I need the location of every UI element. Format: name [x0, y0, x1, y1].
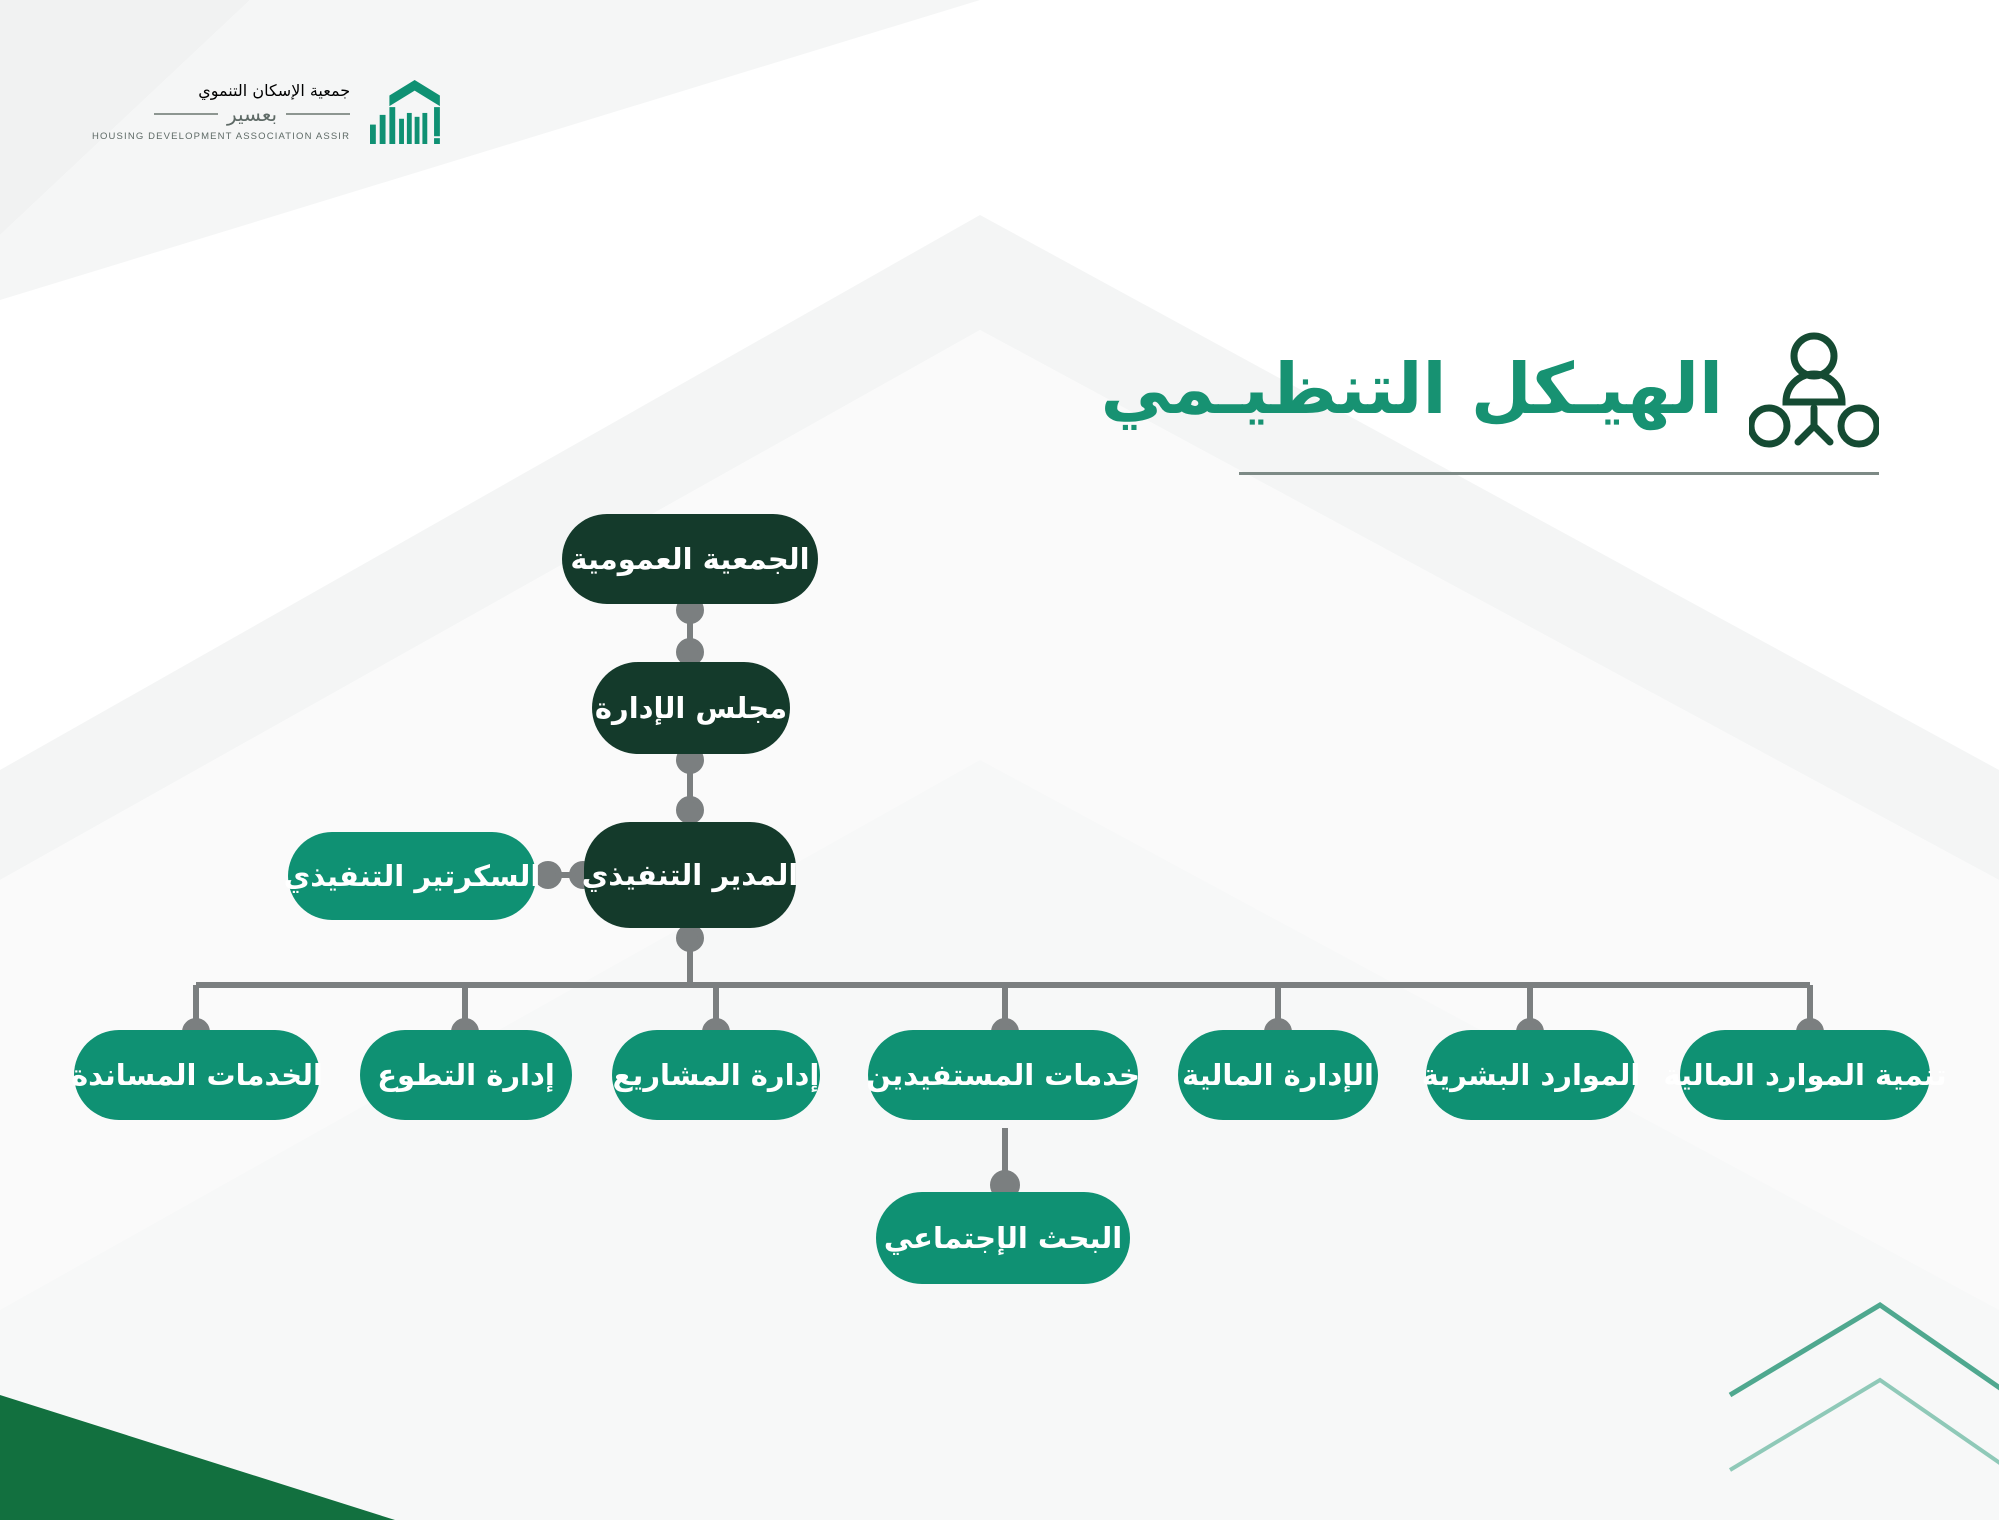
- org-node-general-assembly[interactable]: الجمعية العمومية: [562, 514, 818, 604]
- org-node-board-of-directors[interactable]: مجلس الإدارة: [592, 662, 790, 754]
- org-node-label: المدير التنفيذي: [582, 858, 799, 892]
- org-node-beneficiary-services[interactable]: خدمات المستفيدين: [868, 1030, 1138, 1120]
- org-node-label: الإدارة المالية: [1182, 1058, 1374, 1092]
- org-node-project-management[interactable]: إدارة المشاريع: [612, 1030, 820, 1120]
- org-node-social-research[interactable]: البحث الإجتماعي: [876, 1192, 1130, 1284]
- org-node-human-resources[interactable]: الموارد البشرية: [1426, 1030, 1636, 1120]
- org-chart-connectors: [0, 0, 1999, 1520]
- org-node-financial-resources-development[interactable]: تنمية الموارد المالية: [1680, 1030, 1930, 1120]
- org-node-executive-director[interactable]: المدير التنفيذي: [584, 822, 796, 928]
- org-node-label: البحث الإجتماعي: [884, 1221, 1122, 1255]
- org-node-label: إدارة التطوع: [377, 1058, 555, 1092]
- org-node-label: الخدمات المساندة: [71, 1058, 323, 1092]
- org-node-label: الجمعية العمومية: [570, 542, 809, 576]
- org-chart: الجمعية العمومية مجلس الإدارة المدير الت…: [0, 0, 1999, 1520]
- org-node-label: تنمية الموارد المالية: [1663, 1058, 1946, 1092]
- org-node-label: مجلس الإدارة: [595, 691, 787, 725]
- org-node-label: السكرتير التنفيذي: [284, 859, 541, 893]
- org-node-financial-management[interactable]: الإدارة المالية: [1178, 1030, 1378, 1120]
- org-node-executive-secretary[interactable]: السكرتير التنفيذي: [288, 832, 536, 920]
- org-node-label: خدمات المستفيدين: [866, 1058, 1140, 1092]
- org-node-volunteer-management[interactable]: إدارة التطوع: [360, 1030, 572, 1120]
- org-node-label: إدارة المشاريع: [613, 1058, 820, 1092]
- org-node-label: الموارد البشرية: [1422, 1058, 1641, 1092]
- org-node-support-services[interactable]: الخدمات المساندة: [74, 1030, 320, 1120]
